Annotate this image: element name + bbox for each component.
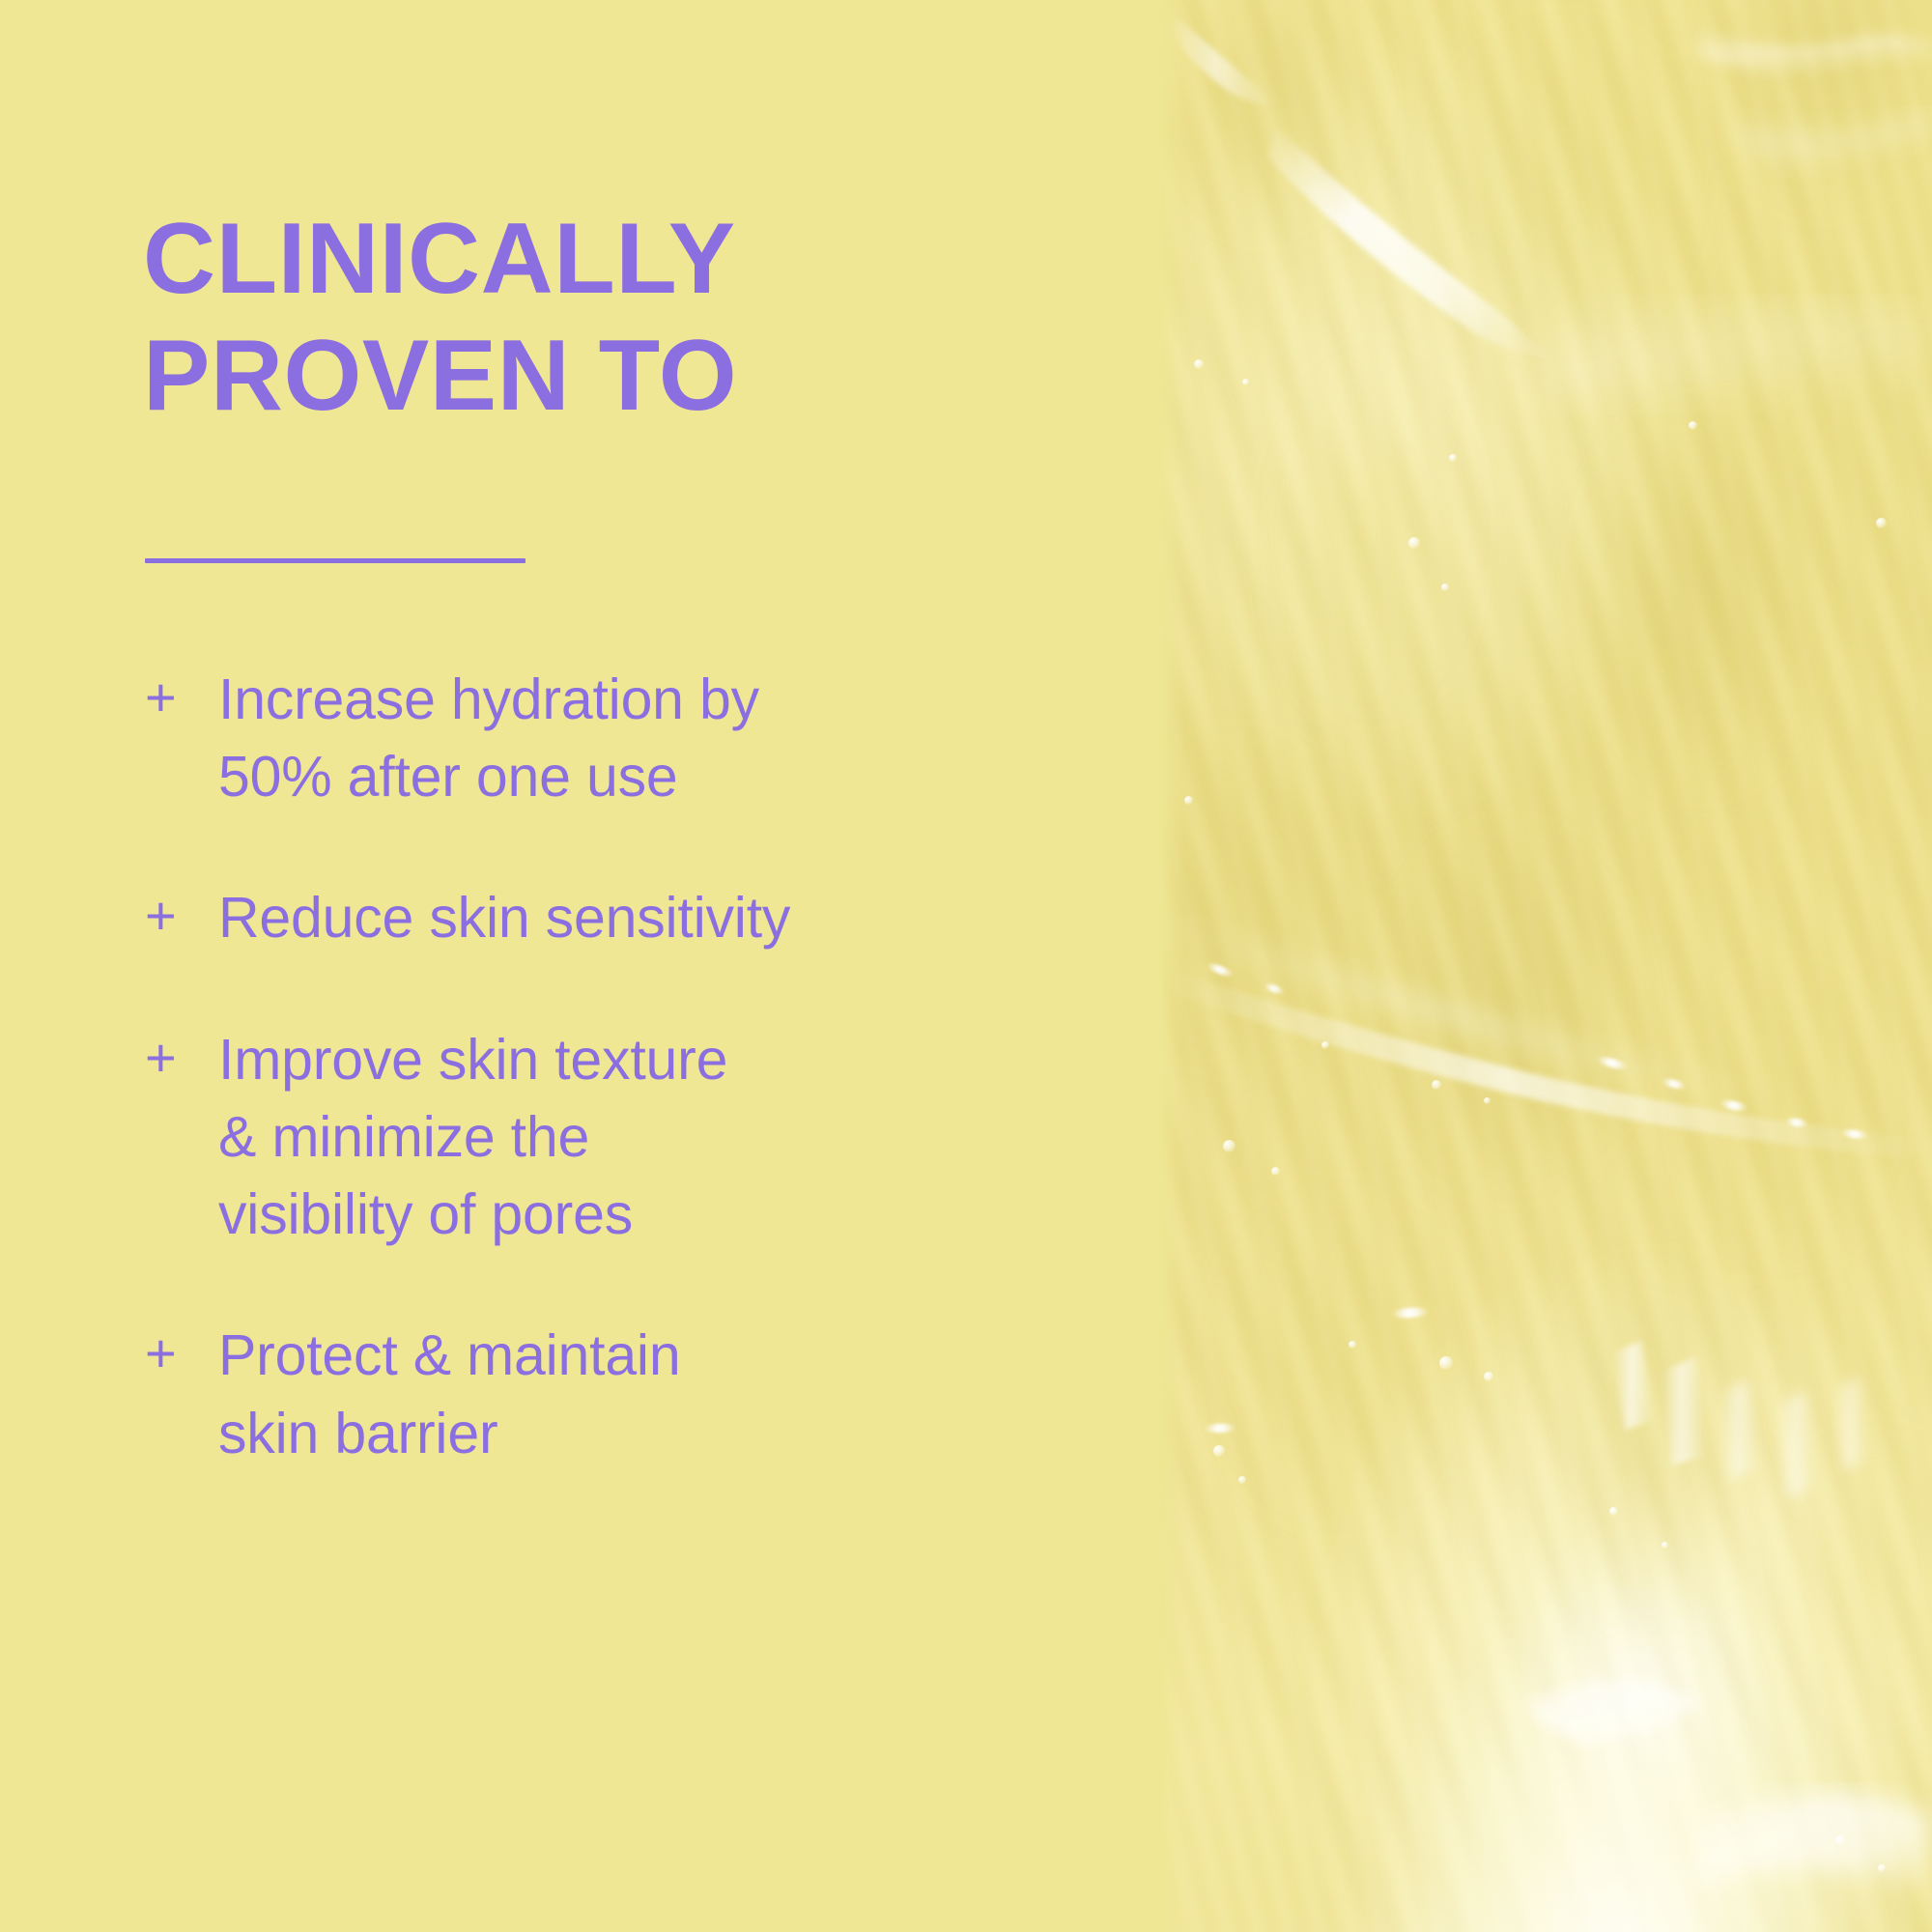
gel-texture-image <box>1159 0 1932 1932</box>
marketing-graphic: CLINICALLY PROVEN TO + Increase hydratio… <box>0 0 1932 1932</box>
benefit-text: Improve skin texture & minimize the visi… <box>218 1021 1092 1254</box>
list-item: + Increase hydration by 50% after one us… <box>145 661 1092 815</box>
list-item: + Protect & maintain skin barrier <box>145 1317 1092 1471</box>
plus-icon: + <box>145 1317 218 1390</box>
page-title: CLINICALLY PROVEN TO <box>143 201 1051 434</box>
benefit-list: + Increase hydration by 50% after one us… <box>145 661 1092 1536</box>
text-panel: CLINICALLY PROVEN TO + Increase hydratio… <box>0 0 1159 1932</box>
title-divider <box>145 558 526 563</box>
benefit-text: Reduce skin sensitivity <box>218 879 1092 956</box>
gel-bottom-glow <box>1159 1314 1932 1932</box>
benefit-text: Increase hydration by 50% after one use <box>218 661 1092 815</box>
benefit-text: Protect & maintain skin barrier <box>218 1317 1092 1471</box>
gel-panel-edge-fade <box>1159 0 1184 1932</box>
list-item: + Reduce skin sensitivity <box>145 879 1092 956</box>
plus-icon: + <box>145 661 218 734</box>
list-item: + Improve skin texture & minimize the vi… <box>145 1021 1092 1254</box>
plus-icon: + <box>145 1021 218 1094</box>
plus-icon: + <box>145 879 218 952</box>
